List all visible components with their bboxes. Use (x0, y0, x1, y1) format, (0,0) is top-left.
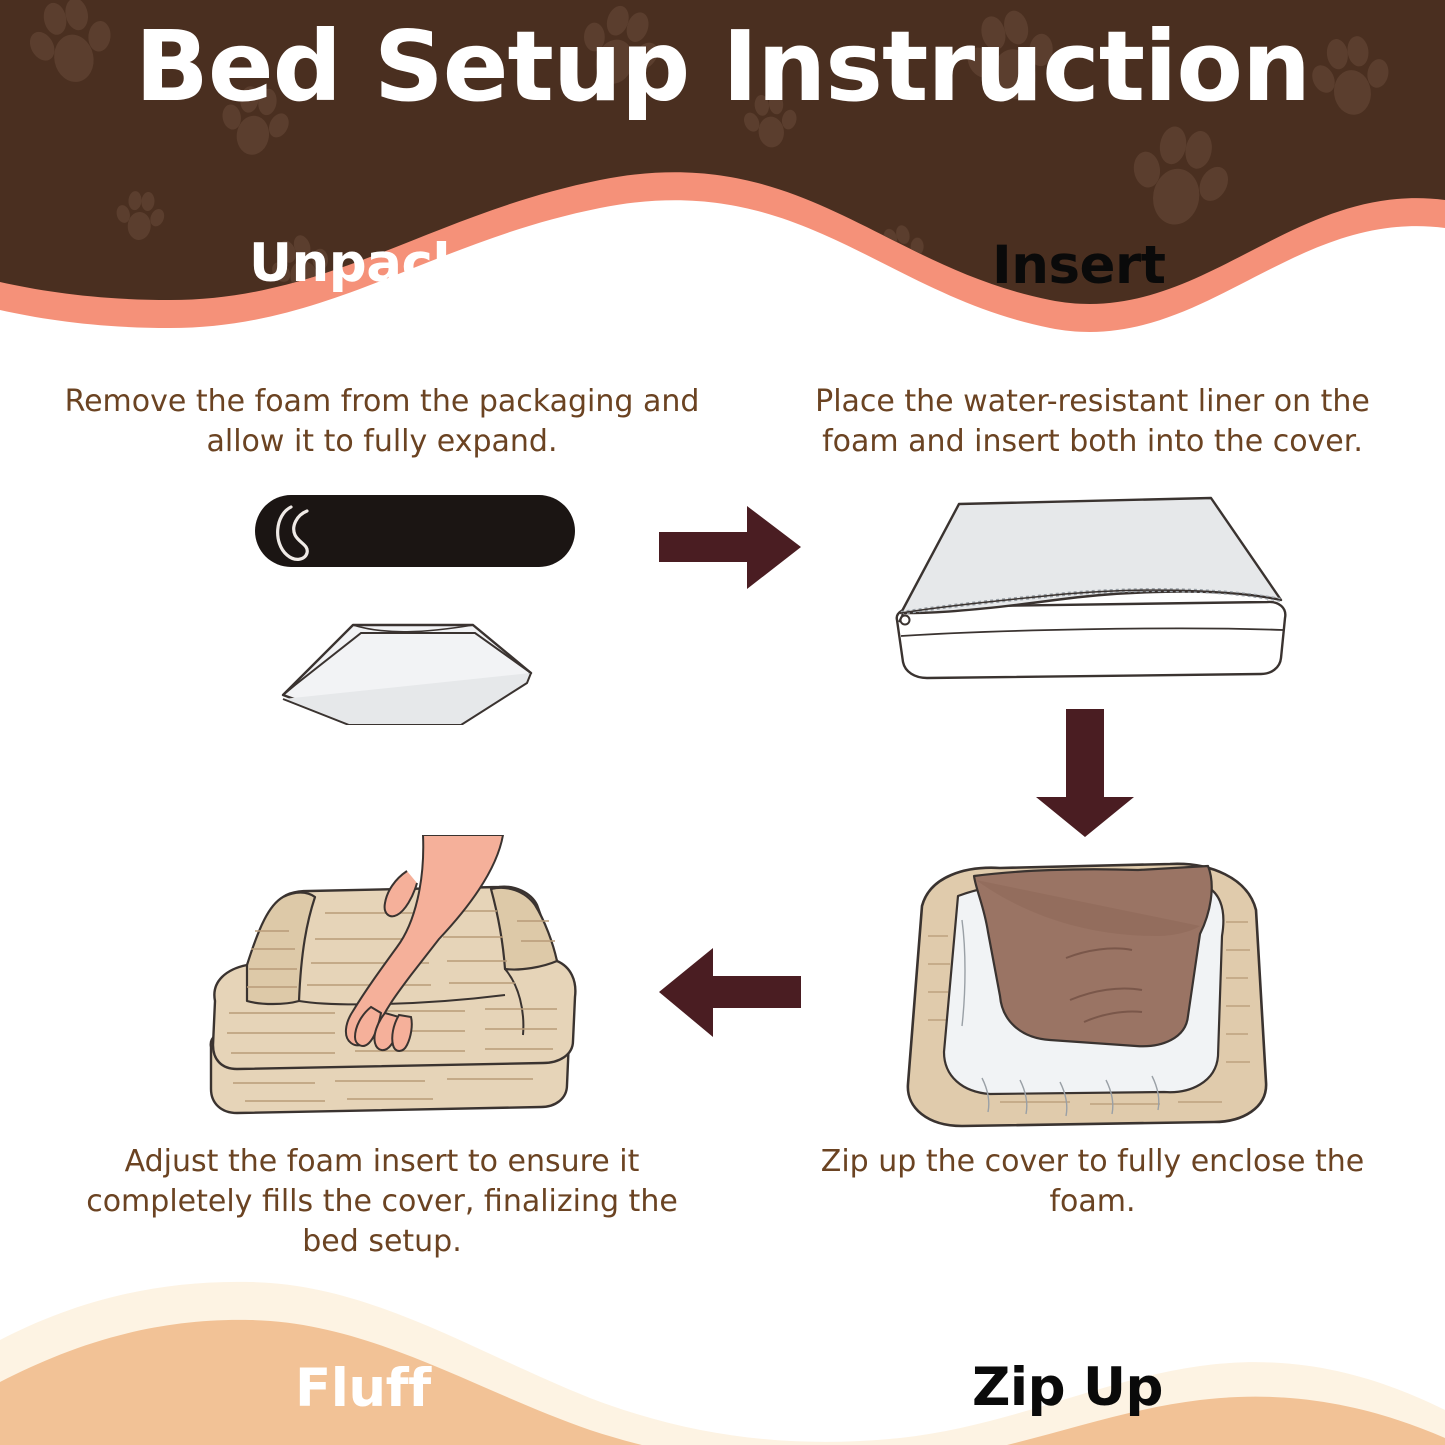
rolled-foam-icon (255, 495, 575, 567)
bed-setup-instruction-poster: Bed Setup Instruction Unpack Insert Remo… (0, 0, 1445, 1445)
step-label-insert: Insert (992, 235, 1165, 296)
step-label-unpack: Unpack (249, 233, 467, 294)
open-bed-cover-illustration (870, 840, 1290, 1140)
footer-banner (0, 1270, 1445, 1445)
arrow-right-icon (655, 500, 805, 595)
arrow-down-icon (1030, 705, 1140, 840)
caption-unpack: Remove the foam from the packaging and a… (62, 382, 702, 462)
caption-fluff: Adjust the foam insert to ensure it comp… (62, 1142, 702, 1262)
foam-with-liner-illustration (875, 480, 1305, 695)
arrow-left-icon (655, 940, 805, 1045)
hand-fluffing-bed-illustration (185, 835, 620, 1135)
folded-liner-icon (283, 625, 531, 725)
step-label-zipup: Zip Up (972, 1357, 1163, 1418)
foam-block-icon (897, 602, 1286, 678)
caption-zipup: Zip up the cover to fully enclose the fo… (785, 1142, 1400, 1222)
step-label-fluff: Fluff (295, 1358, 431, 1419)
page-title: Bed Setup Instruction (0, 16, 1445, 118)
rolled-foam-and-liner-illustration (245, 485, 605, 725)
footer-wave-graphic (0, 1270, 1445, 1445)
caption-insert: Place the water-resistant liner on the f… (775, 382, 1410, 462)
foam-cushion-icon (974, 866, 1212, 1046)
